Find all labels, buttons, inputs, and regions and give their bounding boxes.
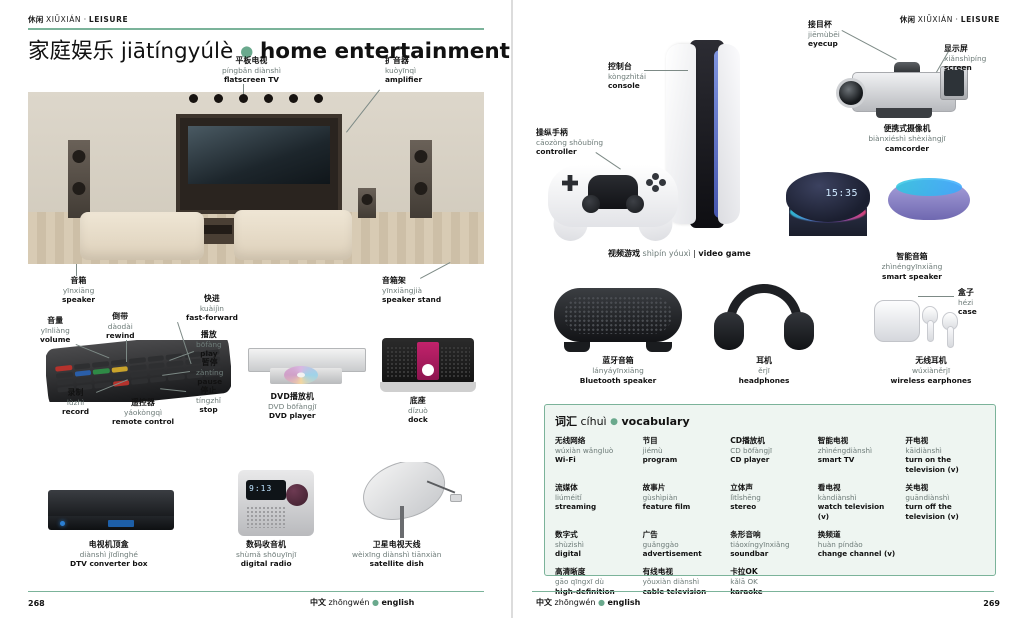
caption-bluetooth-speaker-zh: 蓝牙音箱 (548, 356, 688, 366)
caption-video-game-en: video game (698, 249, 750, 258)
vocabulary-item-pinyin: kāidiànshì (905, 446, 985, 455)
footer-left-en: english (381, 598, 414, 607)
label-speaker: 音箱 yīnxiāng speaker (62, 276, 95, 304)
vocabulary-item-en: digital (555, 549, 635, 558)
vocabulary-item-en: Wi-Fi (555, 455, 635, 464)
dictionary-spread: 休闲 XIŪXIÁN · LEISURE 家庭娱乐 jiātíngyúlè ● … (0, 0, 1024, 618)
label-amplifier-en: amplifier (385, 75, 422, 84)
label-record-en: record (62, 407, 89, 416)
label-stop-zh: 停止 (196, 386, 221, 396)
smart-speaker-dot-light (896, 178, 962, 196)
vocabulary-item-zh: 关电视 (905, 483, 985, 493)
label-satellite-dish-pinyin: wèixīng diànshì tiānxiàn (352, 550, 442, 559)
dish-reflector (359, 462, 448, 528)
label-console: 控制台 kòngzhìtái console (608, 62, 646, 90)
footer-right-en: english (607, 598, 640, 607)
running-head-right: 休闲 XIŪXIÁN · LEISURE (900, 14, 1000, 25)
vocabulary-item-pinyin: gāo qīngxī dù (555, 577, 635, 586)
footer-left-bullet: ● (372, 598, 379, 607)
label-speaker-stand: 音箱架 yīnxiāngjià speaker stand (382, 276, 441, 304)
running-head-right-separator: · (956, 15, 959, 24)
dtv-converter-box-photo (48, 490, 174, 536)
label-dtv-converter-box: 电视机顶盒 diànshì jīdǐnghé DTV converter box (70, 540, 148, 568)
vocabulary-item-pinyin: kàndiànshì (818, 493, 898, 502)
leader-eyecup (842, 30, 897, 60)
vocabulary-item-zh: 有线电视 (643, 567, 723, 577)
bt-speaker-mesh (564, 296, 672, 334)
vocabulary-item: 故事片gùshìpiànfeature film (643, 483, 723, 521)
headphones-earcup-right (784, 312, 814, 350)
vocabulary-item: 智能电视zhìnéngdiànshìsmart TV (818, 436, 898, 474)
footer-right-pinyin: zhōngwén (555, 598, 596, 607)
footer-rule-left (28, 591, 484, 592)
label-console-zh: 控制台 (608, 62, 646, 72)
label-flatscreen-tv-zh: 平板电视 (222, 56, 281, 66)
label-volume-en: volume (40, 335, 70, 344)
camera-lens-icon (836, 78, 866, 108)
vocabulary-item-pinyin: jiémù (643, 446, 723, 455)
vocabulary-item: 节目jiémùprogram (643, 436, 723, 474)
vocabulary-item-empty (905, 530, 985, 559)
label-remote-control-pinyin: yáokòngqì (112, 408, 174, 417)
vocabulary-item-zh: 无线网络 (555, 436, 635, 446)
vocabulary-item-en: smart TV (818, 455, 898, 464)
dock-grill-left (386, 346, 416, 378)
vocabulary-item-zh: CD播放机 (730, 436, 810, 446)
dock-grill-right (440, 346, 470, 378)
label-rewind-en: rewind (106, 331, 135, 340)
footer-left-zh: 中文 (310, 598, 326, 607)
label-rewind: 倒带 dàodài rewind (106, 312, 135, 340)
caption-bluetooth-speaker-pinyin: lányáyīnxiāng (548, 366, 688, 376)
ceiling-speakers (28, 94, 484, 103)
page-right: 休闲 XIŪXIÁN · LEISURE 控制台 kòngzhìtái cons… (512, 0, 1024, 618)
vocabulary-item: 立体声lìtǐshēngstereo (730, 483, 810, 521)
vocabulary-item-zh: 数字式 (555, 530, 635, 540)
label-remote-control-en: remote control (112, 417, 174, 426)
footer-left-pinyin: zhōngwén (329, 598, 370, 607)
label-digital-radio-pinyin: shùmǎ shōuyīnjī (236, 550, 296, 559)
vocabulary-item-en: streaming (555, 502, 635, 511)
label-rewind-pinyin: dàodài (106, 322, 135, 331)
vocabulary-item-en: program (643, 455, 723, 464)
label-speaker-stand-en: speaker stand (382, 295, 441, 304)
vocabulary-item: 无线网络wúxiàn wǎngluòWi-Fi (555, 436, 635, 474)
caption-video-game: 视频游戏 shìpín yóuxì | video game (608, 248, 751, 259)
vocabulary-item: 数字式shùzìshìdigital (555, 530, 635, 559)
smart-speaker-photo: 15:35 (786, 172, 870, 242)
label-dock-pinyin: dǐzuò (408, 406, 428, 415)
label-stop: 停止 tíngzhǐ stop (196, 386, 221, 414)
running-head-right-pinyin: XIŪXIÁN (918, 15, 953, 24)
label-screen: 显示屏 xiǎnshìpíng screen (944, 44, 986, 72)
vocabulary-item-en: change channel (v) (818, 549, 898, 558)
vocabulary-item-zh: 节目 (643, 436, 723, 446)
label-volume-zh: 音量 (40, 316, 70, 326)
label-pause-pinyin: zàntíng (196, 368, 223, 377)
vocabulary-item-zh: 开电视 (905, 436, 985, 446)
dock-photo (380, 338, 476, 392)
page-left: 休闲 XIŪXIÁN · LEISURE 家庭娱乐 jiātíngyúlè ● … (0, 0, 512, 618)
caption-headphones-pinyin: ěrjī (708, 366, 820, 376)
radio-speaker-grill (246, 506, 286, 528)
label-speaker-zh: 音箱 (62, 276, 95, 286)
running-head-zh: 休闲 (28, 15, 43, 24)
label-satellite-dish-en: satellite dish (352, 559, 442, 568)
label-case-zh: 盒子 (958, 288, 977, 298)
label-fast-forward-en: fast-forward (186, 313, 238, 322)
vocabulary-item-en: CD player (730, 455, 810, 464)
label-speaker-stand-pinyin: yīnxiāngjià (382, 286, 441, 295)
caption-headphones-en: headphones (708, 376, 820, 386)
label-console-en: console (608, 81, 646, 90)
label-eyecup-pinyin: jiēmùbēi (808, 30, 840, 39)
vocabulary-item-zh: 流媒体 (555, 483, 635, 493)
earbud-stem-right (947, 326, 954, 348)
caption-smart-speaker-pinyin: zhìnéngyīnxiāng (852, 262, 972, 272)
sofa-right (234, 210, 352, 260)
vocabulary-item: 关电视guāndiànshìturn off the television (v… (905, 483, 985, 521)
vocabulary-item-zh: 立体声 (730, 483, 810, 493)
bluetooth-speaker-photo (548, 288, 688, 352)
label-screen-pinyin: xiǎnshìpíng (944, 54, 986, 63)
dvd-player-photo (248, 348, 366, 390)
game-controller-photo (548, 155, 678, 241)
vocabulary-heading-bullet: ● (610, 417, 618, 427)
label-flatscreen-tv: 平板电视 píngbǎn diànshì flatscreen TV (222, 56, 281, 84)
leader-speaker (76, 264, 77, 276)
controller-stick-left[interactable] (582, 195, 600, 213)
running-head-right-zh: 休闲 (900, 15, 915, 24)
label-eyecup-en: eyecup (808, 39, 840, 48)
vocabulary-item-pinyin: zhìnéngdiànshì (818, 446, 898, 455)
vocabulary-grid: 无线网络wúxiàn wǎngluòWi-Fi节目jiémùprogramCD播… (555, 436, 985, 596)
leader-flatscreen-tv (243, 84, 244, 94)
label-dtv-box-en: DTV converter box (70, 559, 148, 568)
vocabulary-heading-pinyin: cíhuì (581, 415, 607, 428)
label-amplifier: 扩音器 kuòyīnqì amplifier (385, 56, 422, 84)
label-digital-radio-zh: 数码收音机 (236, 540, 296, 550)
vocabulary-item-pinyin: kǎlā OK (730, 577, 810, 586)
label-dtv-box-pinyin: diànshì jīdǐnghé (70, 550, 148, 559)
caption-wireless-earphones-en: wireless earphones (866, 376, 996, 386)
caption-camcorder-pinyin: biànxiéshì shèxiàngjī (842, 134, 972, 144)
footer-left: 中文 zhōngwén ● english (310, 597, 414, 608)
speaker-photo-left (68, 140, 90, 218)
vocabulary-item-zh: 条形音响 (730, 530, 810, 540)
leader-rewind (126, 340, 127, 362)
vocabulary-item-zh: 换频道 (818, 530, 898, 540)
satellite-dish-photo (356, 462, 466, 538)
label-volume-pinyin: yīnliàng (40, 326, 70, 335)
vocabulary-item-pinyin: shùzìshì (555, 540, 635, 549)
vocabulary-item-pinyin: liúméitǐ (555, 493, 635, 502)
caption-video-game-sep: | (693, 249, 696, 258)
vocabulary-item-pinyin: guǎnggào (643, 540, 723, 549)
label-record-pinyin: lùzhì (62, 398, 89, 407)
label-case: 盒子 hézi case (958, 288, 977, 316)
dtv-badge (108, 520, 134, 527)
vocabulary-item-zh: 智能电视 (818, 436, 898, 446)
smart-speaker-dot-photo (888, 174, 970, 226)
label-dvd-player-zh: DVD播放机 (268, 392, 316, 402)
label-console-pinyin: kòngzhìtái (608, 72, 646, 81)
label-case-pinyin: hézi (958, 298, 977, 307)
leader-case (918, 296, 954, 297)
label-case-en: case (958, 307, 977, 316)
page-gutter (511, 0, 513, 618)
label-dvd-player: DVD播放机 DVD bōfàngjī DVD player (268, 392, 316, 420)
label-volume: 音量 yīnliàng volume (40, 316, 70, 344)
caption-bluetooth-speaker: 蓝牙音箱 lányáyīnxiāng Bluetooth speaker (548, 356, 688, 385)
vocabulary-item-pinyin: lìtǐshēng (730, 493, 810, 502)
label-speaker-pinyin: yīnxiāng (62, 286, 95, 295)
vocabulary-heading-en: vocabulary (621, 415, 689, 428)
caption-camcorder-en: camcorder (842, 144, 972, 154)
earphones-case-part (874, 300, 920, 342)
headphones-photo (712, 284, 816, 352)
label-remote-control: 遥控器 yáokòngqì remote control (112, 398, 174, 426)
running-head-pinyin: XIŪXIÁN (46, 15, 81, 24)
speaker-photo-right (410, 140, 432, 218)
footer-right-zh: 中文 (536, 598, 552, 607)
vocabulary-item-en: advertisement (643, 549, 723, 558)
label-eyecup-zh: 接目杯 (808, 20, 840, 30)
controller-stick-right[interactable] (626, 195, 644, 213)
label-remote-control-zh: 遥控器 (112, 398, 174, 408)
power-led-icon (60, 521, 65, 526)
label-dvd-player-pinyin: DVD bōfàngjī (268, 402, 316, 411)
label-play-zh: 播放 (196, 330, 222, 340)
label-dtv-box-zh: 电视机顶盒 (70, 540, 148, 550)
label-fast-forward-zh: 快进 (186, 294, 238, 304)
vocabulary-item-pinyin: gùshìpiàn (643, 493, 723, 502)
label-dock: 底座 dǐzuò dock (408, 396, 428, 424)
header-rule-left (28, 28, 484, 30)
flatscreen-tv-photo (188, 126, 330, 184)
label-dock-en: dock (408, 415, 428, 424)
vocabulary-item-en: feature film (643, 502, 723, 511)
caption-smart-speaker-zh: 智能音箱 (852, 252, 972, 262)
label-record-zh: 录制 (62, 388, 89, 398)
label-dock-zh: 底座 (408, 396, 428, 406)
label-digital-radio-en: digital radio (236, 559, 296, 568)
vocabulary-item: 换频道huàn píndàochange channel (v) (818, 530, 898, 559)
caption-headphones-zh: 耳机 (708, 356, 820, 366)
running-head-en: LEISURE (89, 15, 128, 24)
label-pause-zh: 暂停 (196, 358, 223, 368)
label-fast-forward-pinyin: kuàijìn (186, 304, 238, 313)
caption-smart-speaker: 智能音箱 zhìnéngyīnxiāng smart speaker (852, 252, 972, 281)
radio-display-text: 9:13 (249, 484, 272, 493)
radio-tuning-knob[interactable] (286, 484, 308, 506)
dock-base (380, 382, 476, 392)
tv-cabinet (176, 114, 342, 214)
bt-speaker-foot-right (646, 342, 672, 352)
footer-right-bullet: ● (598, 598, 605, 607)
caption-wireless-earphones-zh: 无线耳机 (866, 356, 996, 366)
controller-face-buttons[interactable] (646, 173, 666, 193)
vocabulary-item: 条形音响tiáoxíngyīnxiǎngsoundbar (730, 530, 810, 559)
vocabulary-item-pinyin: CD bōfàngjī (730, 446, 810, 455)
vocabulary-item-pinyin: wúxiàn wǎngluò (555, 446, 635, 455)
label-flatscreen-tv-en: flatscreen TV (222, 75, 281, 84)
vocabulary-heading-zh: 词汇 (555, 415, 577, 428)
vocabulary-item-en: watch television (v) (818, 502, 898, 521)
console-panel-right (718, 44, 740, 224)
label-stop-pinyin: tíngzhǐ (196, 396, 221, 405)
label-flatscreen-tv-pinyin: píngbǎn diànshì (222, 66, 281, 75)
label-speaker-en: speaker (62, 295, 95, 304)
caption-camcorder: 便携式摄像机 biànxiéshì shèxiàngjī camcorder (842, 124, 972, 153)
label-screen-zh: 显示屏 (944, 44, 986, 54)
caption-video-game-zh: 视频游戏 (608, 249, 640, 258)
label-pause: 暂停 zàntíng pause (196, 358, 223, 386)
vocabulary-item-en: soundbar (730, 549, 810, 558)
vocabulary-item-zh: 广告 (643, 530, 723, 540)
label-screen-en: screen (944, 63, 986, 72)
vocabulary-heading: 词汇 cíhuì ● vocabulary (555, 413, 985, 429)
label-satellite-dish: 卫星电视天线 wèixīng diànshì tiānxiàn satellit… (352, 540, 442, 568)
running-head-left: 休闲 XIŪXIÁN · LEISURE (28, 14, 128, 25)
vocabulary-item: 看电视kàndiànshìwatch television (v) (818, 483, 898, 521)
label-record: 录制 lùzhì record (62, 388, 89, 416)
sofa-left (80, 212, 204, 260)
vocabulary-item: 流媒体liúméitǐstreaming (555, 483, 635, 521)
footer-right: 中文 zhōngwén ● english (536, 597, 640, 608)
label-play-pinyin: bōfàng (196, 340, 222, 349)
label-controller-pinyin: cāozòng shǒubǐng (536, 138, 603, 147)
label-fast-forward: 快进 kuàijìn fast-forward (186, 294, 238, 322)
caption-camcorder-zh: 便携式摄像机 (842, 124, 972, 134)
label-controller-zh: 操纵手柄 (536, 128, 603, 138)
vocabulary-item: 广告guǎnggàoadvertisement (643, 530, 723, 559)
vocabulary-item-zh: 看电视 (818, 483, 898, 493)
label-digital-radio: 数码收音机 shùmǎ shōuyīnjī digital radio (236, 540, 296, 568)
vocabulary-item-pinyin: tiáoxíngyīnxiǎng (730, 540, 810, 549)
dish-mast (400, 506, 404, 538)
vocabulary-item: 开电视kāidiànshìturn on the television (v) (905, 436, 985, 474)
camcorder-grip (876, 108, 932, 118)
running-head-right-en: LEISURE (961, 15, 1000, 24)
bt-speaker-foot-left (564, 342, 590, 352)
living-room-photo (28, 92, 484, 264)
page-number-right: 269 (983, 599, 1000, 608)
page-title-pinyin: jiātíngyúlè (121, 39, 233, 64)
vocabulary-item-en: turn off the television (v) (905, 502, 985, 521)
dvd-disc (284, 366, 318, 384)
headphones-earcup-left (714, 312, 744, 350)
label-play: 播放 bōfàng play (196, 330, 222, 358)
caption-headphones: 耳机 ěrjī headphones (708, 356, 820, 385)
smart-speaker-clock: 15:35 (825, 188, 858, 199)
vocabulary-item-pinyin: guāndiànshì (905, 493, 985, 502)
page-title-zh: 家庭娱乐 (28, 39, 114, 64)
digital-radio-photo: 9:13 (238, 470, 314, 536)
vocabulary-item-zh: 高清晰度 (555, 567, 635, 577)
label-stop-en: stop (196, 405, 221, 414)
caption-bluetooth-speaker-en: Bluetooth speaker (548, 376, 688, 386)
footer-rule-right (532, 591, 994, 592)
vocabulary-item-en: turn on the television (v) (905, 455, 985, 474)
media-player-photo (417, 342, 439, 380)
caption-wireless-earphones: 无线耳机 wúxiàněrjī wireless earphones (866, 356, 996, 385)
label-eyecup: 接目杯 jiēmùbēi eyecup (808, 20, 840, 48)
label-controller: 操纵手柄 cāozòng shǒubǐng controller (536, 128, 603, 156)
label-rewind-zh: 倒带 (106, 312, 135, 322)
vocabulary-item-en: stereo (730, 502, 810, 511)
vocabulary-item-zh: 卡拉OK (730, 567, 810, 577)
label-satellite-dish-zh: 卫星电视天线 (352, 540, 442, 550)
label-dvd-player-en: DVD player (268, 411, 316, 420)
vocabulary-box: 词汇 cíhuì ● vocabulary 无线网络wúxiàn wǎngluò… (544, 404, 996, 576)
leader-console (644, 70, 688, 71)
vocabulary-item: CD播放机CD bōfàngjīCD player (730, 436, 810, 474)
page-number-left: 268 (28, 599, 45, 608)
caption-video-game-pinyin: shìpín yóuxì (643, 249, 691, 258)
vocabulary-item-pinyin: huàn píndào (818, 540, 898, 549)
caption-wireless-earphones-pinyin: wúxiàněrjī (866, 366, 996, 376)
running-head-separator: · (84, 15, 87, 24)
label-speaker-stand-zh: 音箱架 (382, 276, 441, 286)
caption-smart-speaker-en: smart speaker (852, 272, 972, 282)
vocabulary-item-zh: 故事片 (643, 483, 723, 493)
label-amplifier-zh: 扩音器 (385, 56, 422, 66)
label-amplifier-pinyin: kuòyīnqì (385, 66, 422, 75)
earbud-stem-left (927, 320, 934, 342)
speaker-stand-photo (358, 188, 376, 218)
vocabulary-item-pinyin: yǒuxiàn diànshì (643, 577, 723, 586)
dish-lnb (450, 494, 462, 502)
